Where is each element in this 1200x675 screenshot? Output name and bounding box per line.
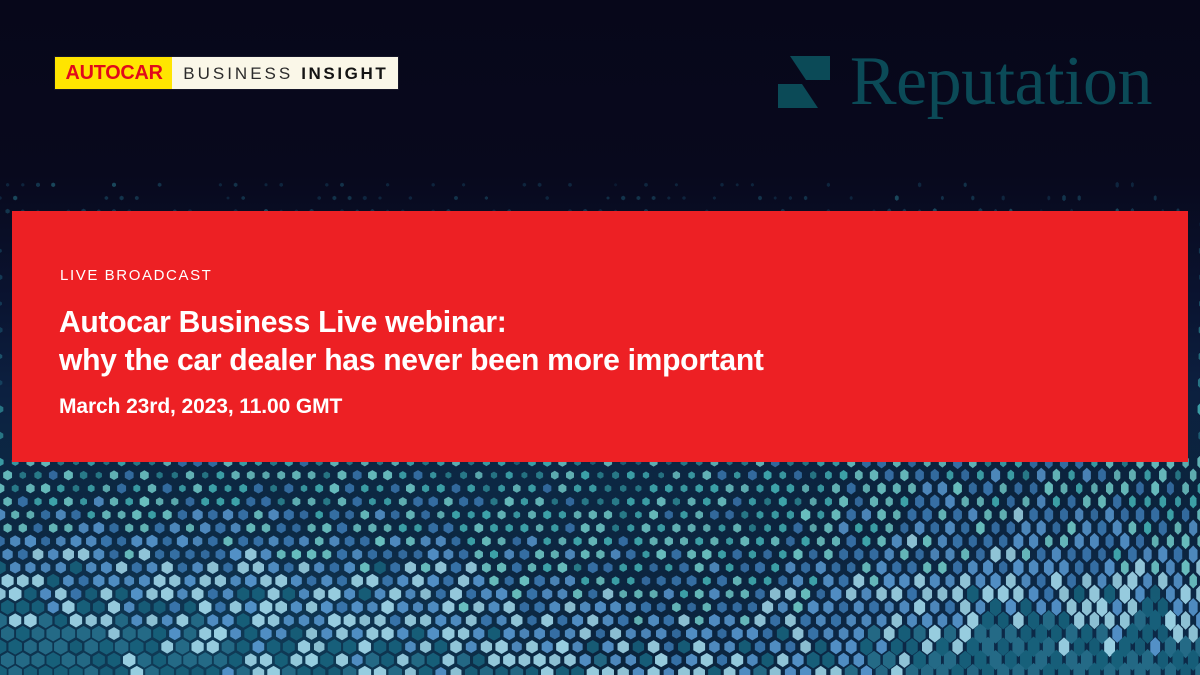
- reputation-logo: Reputation: [776, 47, 1152, 117]
- reputation-diagonal-mark: [776, 54, 832, 110]
- webinar-datetime: March 23rd, 2023, 11.00 GMT: [59, 396, 342, 417]
- webinar-promo-banner: AUTOCAR BUSINESS INSIGHT Reputation LIVE…: [0, 0, 1200, 675]
- autocar-logo-cream-block: BUSINESS INSIGHT: [172, 57, 398, 89]
- red-banner-panel: LIVE BROADCAST Autocar Business Live web…: [12, 211, 1188, 462]
- webinar-headline: Autocar Business Live webinar: why the c…: [59, 303, 764, 379]
- autocar-logo-yellow-block: AUTOCAR: [55, 57, 172, 89]
- insight-wordmark: INSIGHT: [301, 65, 388, 82]
- live-broadcast-label: LIVE BROADCAST: [60, 268, 212, 283]
- business-wordmark: BUSINESS: [183, 65, 293, 82]
- autocar-wordmark: AUTOCAR: [65, 63, 162, 83]
- autocar-business-insight-logo: AUTOCAR BUSINESS INSIGHT: [55, 57, 398, 89]
- reputation-wordmark: Reputation: [850, 47, 1152, 117]
